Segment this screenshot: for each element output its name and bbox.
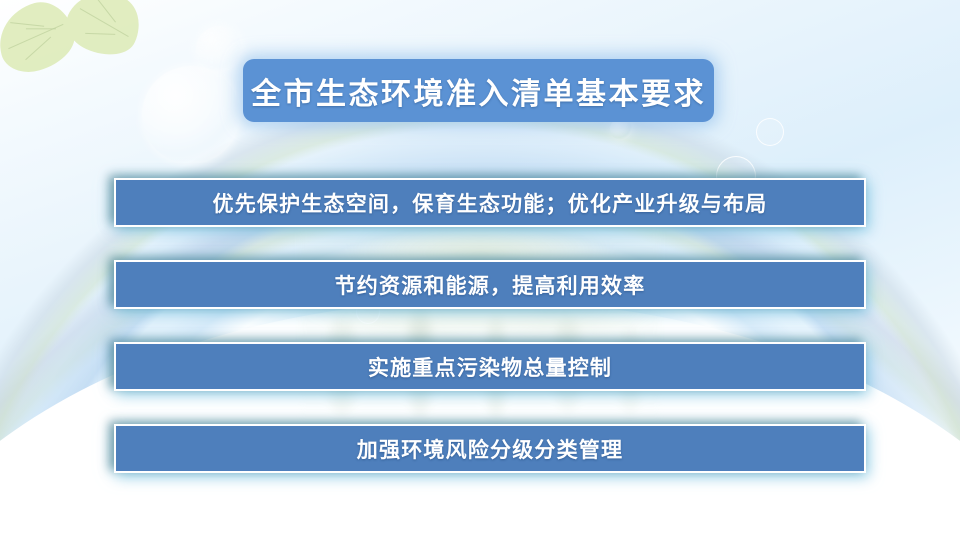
bubble-icon — [756, 118, 784, 146]
leaf-icon — [59, 0, 150, 66]
bubble-icon — [196, 26, 242, 72]
requirement-bar[interactable]: 实施重点污染物总量控制 — [114, 342, 866, 391]
requirement-bar[interactable]: 优先保护生态空间，保育生态功能；优化产业升级与布局 — [114, 178, 866, 227]
page-title: 全市生态环境准入清单基本要求 — [251, 69, 706, 113]
bubble-icon — [142, 66, 240, 164]
requirement-bar[interactable]: 节约资源和能源，提高利用效率 — [114, 260, 866, 309]
requirement-text: 节约资源和能源，提高利用效率 — [335, 270, 646, 300]
requirement-bar[interactable]: 加强环境风险分级分类管理 — [114, 424, 866, 473]
forest-photo-backdrop — [300, 215, 660, 430]
slide-canvas: 全市生态环境准入清单基本要求 优先保护生态空间，保育生态功能；优化产业升级与布局… — [0, 0, 960, 540]
leaf-icon — [0, 0, 30, 2]
requirement-text: 加强环境风险分级分类管理 — [357, 434, 623, 464]
requirement-text: 实施重点污染物总量控制 — [368, 352, 612, 382]
slide-title-banner: 全市生态环境准入清单基本要求 — [243, 59, 714, 122]
requirement-text: 优先保护生态空间，保育生态功能；优化产业升级与布局 — [213, 188, 768, 218]
